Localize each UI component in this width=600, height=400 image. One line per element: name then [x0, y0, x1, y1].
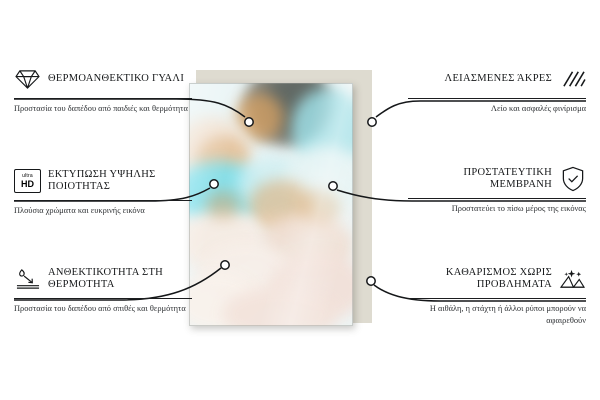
feature-polished-edges: ΛΕΙΑΣΜΕΝΕΣ ΆΚΡΕΣ Λείο και ασφαλές φινίρι…: [408, 64, 586, 115]
feature-heat-resistance: ΑΝΘΕΚΤΙΚΟΤΗΤΑ ΣΤΗ ΘΕΡΜΟΤΗΤΑ Προστασία το…: [14, 264, 192, 315]
feature-heat-resistant-glass: ΘΕΡΜΟΑΝΘΕΚΤΙΚΟ ΓΥΑΛΙ Προστασία του δαπέδ…: [14, 64, 192, 115]
feature-easy-cleaning: ΚΑΘΑΡΙΣΜΟΣ ΧΩΡΙΣ ΠΡΟΒΛΗΜΑΤΑ Η αιθάλη, η …: [408, 264, 586, 327]
ultra-hd-badge-top: ultra: [22, 174, 33, 179]
feature-title: ΛΕΙΑΣΜΕΝΕΣ ΆΚΡΕΣ: [445, 73, 552, 85]
feature-description: Προστατεύει το πίσω μέρος της εικόνας: [408, 203, 586, 215]
shield-check-icon: [559, 166, 586, 193]
diamond-icon: [14, 66, 41, 93]
divider: [408, 98, 586, 99]
polished-edges-icon: [559, 66, 586, 93]
feature-description: Πλούσια χρώματα και ευκρινής εικόνα: [14, 205, 192, 217]
heat-resistance-icon: [14, 266, 41, 293]
feature-title: ΚΑΘΑΡΙΣΜΟΣ ΧΩΡΙΣ ΠΡΟΒΛΗΜΑΤΑ: [408, 267, 552, 292]
feature-description: Λείο και ασφαλές φινίρισμα: [408, 103, 586, 115]
artwork-image: [189, 83, 353, 326]
divider: [14, 298, 192, 299]
feature-description: Προστασία του δαπέδου από παιδιές και θε…: [14, 103, 192, 115]
glass-panel-product: [189, 83, 353, 326]
divider: [408, 198, 586, 199]
infographic-canvas: ΘΕΡΜΟΑΝΘΕΚΤΙΚΟ ΓΥΑΛΙ Προστασία του δαπέδ…: [0, 0, 600, 400]
feature-title: ΕΚΤΥΠΩΣΗ ΥΨΗΛΗΣ ΠΟΙΟΤΗΤΑΣ: [48, 169, 192, 194]
feature-description: Η αιθάλη, η στάχτη ή άλλοι ρύποι μπορούν…: [408, 303, 586, 327]
ultra-hd-icon: ultra HD: [14, 168, 41, 195]
divider: [14, 98, 192, 99]
feature-description: Προστασία του δαπέδου από σπιθές και θερ…: [14, 303, 192, 315]
feature-high-quality-print: ultra HD ΕΚΤΥΠΩΣΗ ΥΨΗΛΗΣ ΠΟΙΟΤΗΤΑΣ Πλούσ…: [14, 166, 192, 217]
divider: [408, 298, 586, 299]
feature-title: ΑΝΘΕΚΤΙΚΟΤΗΤΑ ΣΤΗ ΘΕΡΜΟΤΗΤΑ: [48, 267, 192, 292]
divider: [14, 200, 192, 201]
feature-protective-film: ΠΡΟΣΤΑΤΕΥΤΙΚΗ ΜΕΜΒΡΑΝΗ Προστατεύει το πί…: [408, 164, 586, 215]
feature-title: ΠΡΟΣΤΑΤΕΥΤΙΚΗ ΜΕΜΒΡΑΝΗ: [408, 167, 552, 192]
feature-title: ΘΕΡΜΟΑΝΘΕΚΤΙΚΟ ΓΥΑΛΙ: [48, 73, 184, 85]
sparkle-clean-icon: [559, 266, 586, 293]
ultra-hd-badge-bottom: HD: [21, 180, 34, 189]
